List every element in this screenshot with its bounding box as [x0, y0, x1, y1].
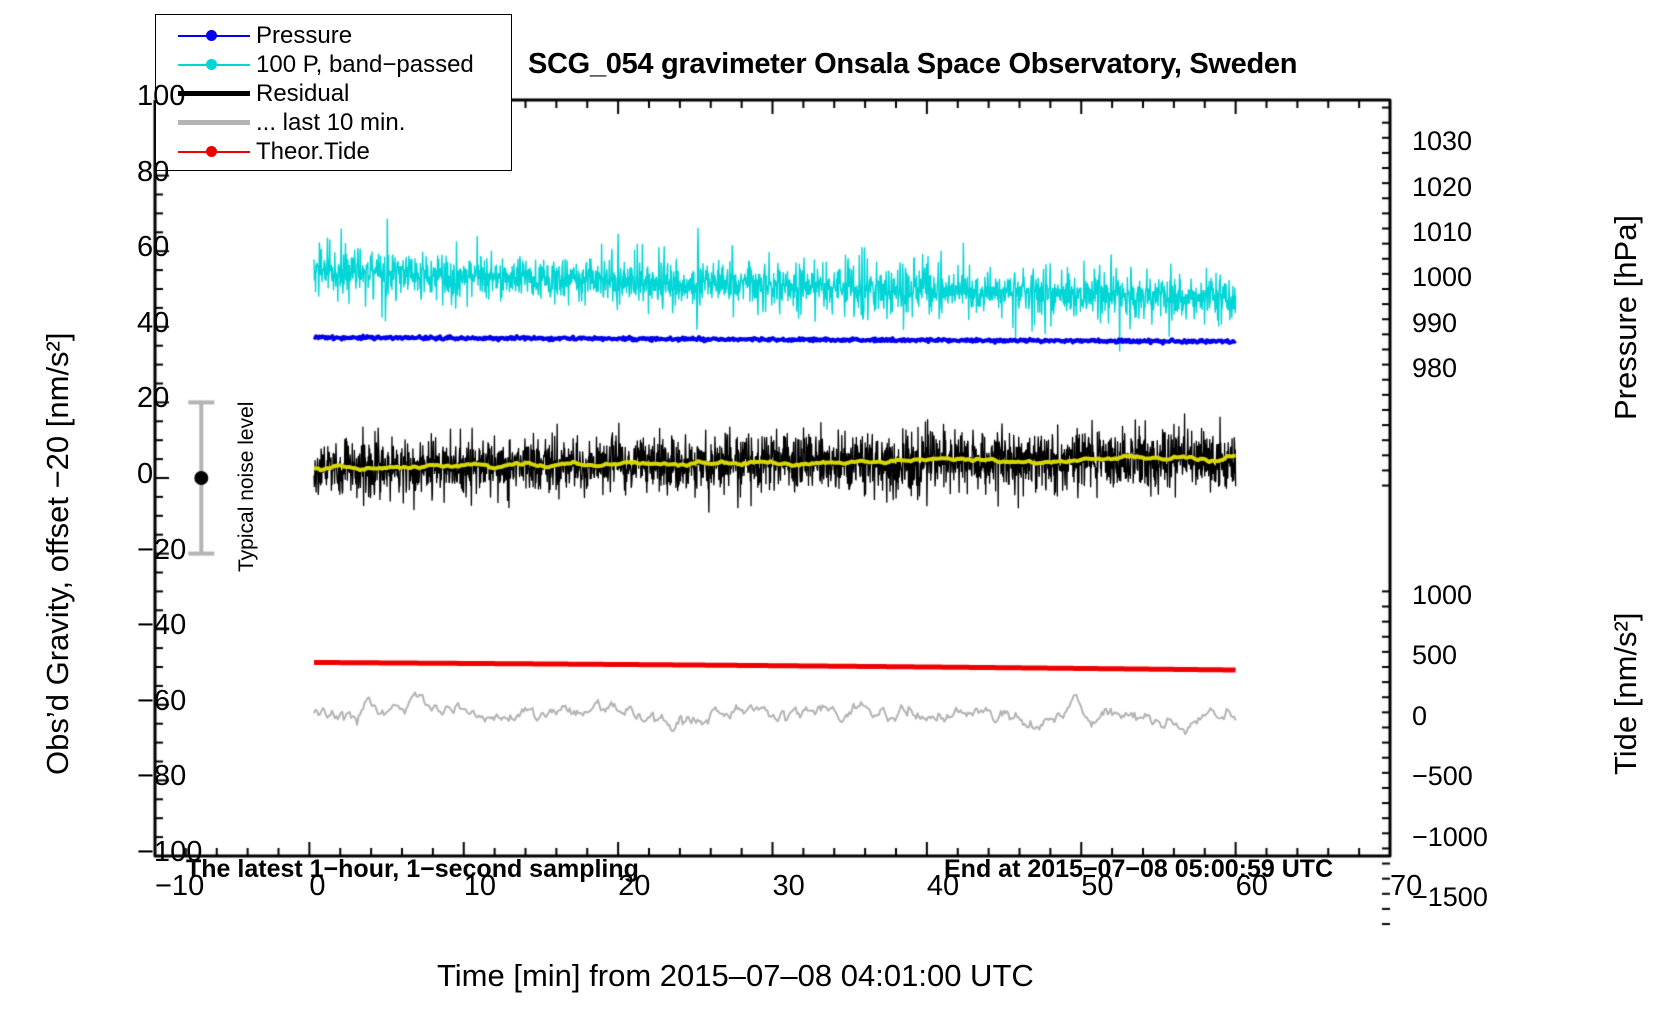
pressure-tick-label: 1030: [1412, 126, 1472, 157]
legend-label-last-10-min: ... last 10 min.: [256, 108, 405, 137]
legend-label-pressure: Pressure: [256, 21, 352, 50]
footer-note-sampling: The latest 1−hour, 1−second sampling: [186, 855, 639, 884]
legend-label-residual: Residual: [256, 79, 349, 108]
typical-noise-level-label: Typical noise level: [235, 402, 259, 572]
legend-key-band-passed: [156, 50, 256, 79]
legend-dot-icon: [206, 30, 217, 41]
tide-tick-label: 0: [1412, 701, 1427, 732]
pressure-tick-label: 1010: [1412, 217, 1472, 248]
legend-item-theor-tide: Theor.Tide: [156, 137, 511, 166]
legend-item-residual: Residual: [156, 79, 511, 108]
legend-key-theor-tide: [156, 137, 256, 166]
y-axis-title-pressure: Pressure [hPa]: [1608, 215, 1644, 420]
legend-dot-icon: [206, 59, 217, 70]
legend-label-theor-tide: Theor.Tide: [256, 137, 370, 166]
pressure-tick-label: 980: [1412, 353, 1457, 384]
tide-tick-label: −1500: [1412, 882, 1488, 913]
legend-line-icon: [178, 120, 250, 125]
legend-label-band-passed: 100 P, band−passed: [256, 50, 474, 79]
legend-key-last-10-min: [156, 108, 256, 137]
legend-item-band-passed: 100 P, band−passed: [156, 50, 511, 79]
legend-dot-icon: [206, 146, 217, 157]
y-axis-title: Obs’d Gravity, offset −20 [nm/s²]: [40, 333, 76, 776]
y-axis-title-tide: Tide [nm/s²]: [1608, 613, 1644, 776]
x-axis-title: Time [min] from 2015‒07‒08 04:01:00 UTC: [437, 958, 1034, 994]
footer-note-end-time: End at 2015−07−08 05:00:59 UTC: [944, 855, 1333, 884]
legend-line-icon: [178, 91, 250, 96]
tide-tick-label: −1000: [1412, 822, 1488, 853]
legend-item-last-10-min: ... last 10 min.: [156, 108, 511, 137]
pressure-tick-label: 1000: [1412, 262, 1472, 293]
legend-key-pressure: [156, 21, 256, 50]
gravimeter-plot-figure: Pressure 100 P, band−passed Residual ...…: [0, 0, 1660, 1020]
tide-tick-label: 500: [1412, 640, 1457, 671]
legend-item-pressure: Pressure: [156, 21, 511, 50]
chart-title: SCG_054 gravimeter Onsala Space Observat…: [528, 48, 1297, 81]
tide-tick-label: 1000: [1412, 580, 1472, 611]
pressure-tick-label: 990: [1412, 308, 1457, 339]
chart-legend: Pressure 100 P, band−passed Residual ...…: [155, 14, 512, 171]
pressure-tick-label: 1020: [1412, 172, 1472, 203]
tide-tick-label: −500: [1412, 761, 1473, 792]
